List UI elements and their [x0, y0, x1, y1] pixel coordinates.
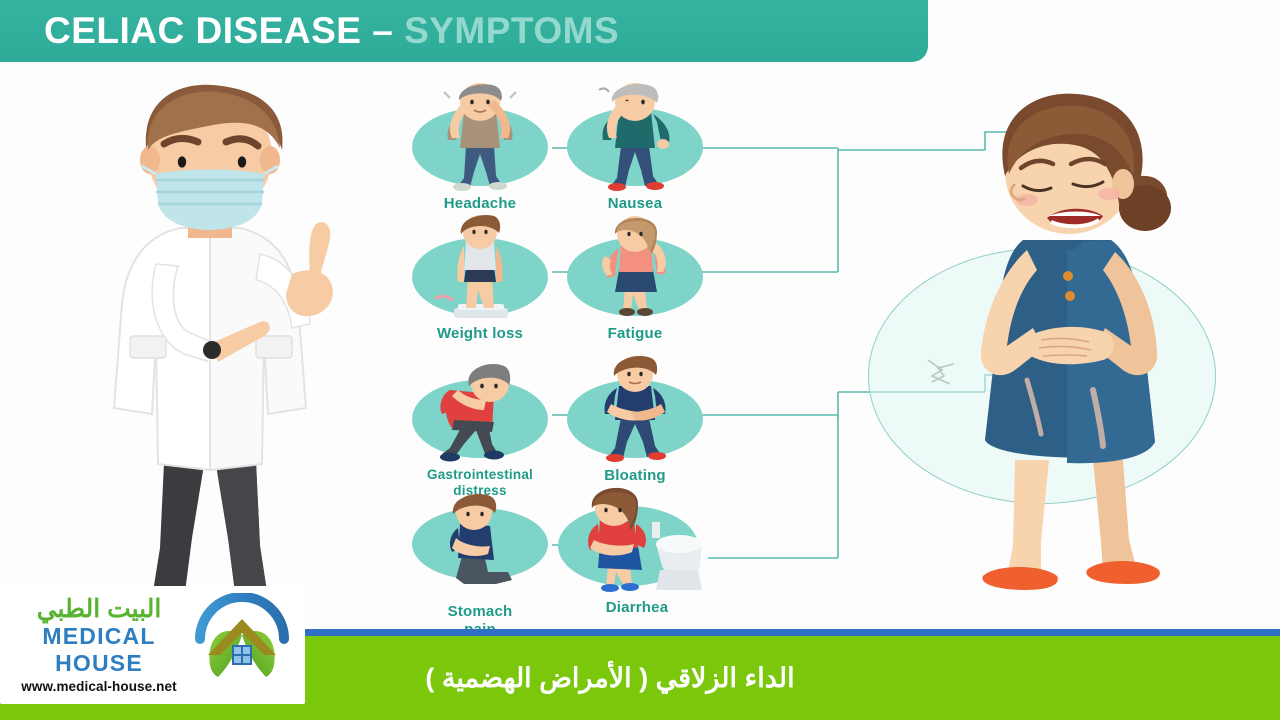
gastrointestinal-distress-figure-icon — [398, 354, 562, 466]
medical-house-emblem-icon — [188, 593, 296, 697]
symptom-headache-art — [404, 82, 556, 194]
logo-text-block: البيت الطبي MEDICAL HOUSE www.medical-ho… — [0, 596, 188, 694]
title-dash: – — [372, 10, 393, 51]
symptom-weight-loss-label: Weight loss — [404, 326, 556, 342]
symptom-gastrointestinal-distress-art — [398, 354, 562, 466]
symptom-bloating-art — [559, 354, 711, 466]
symptom-nausea-label: Nausea — [559, 196, 711, 212]
symptom-gastrointestinal-distress[interactable]: Gastrointestinal distress — [398, 354, 562, 498]
symptom-gastrointestinal-distress-label: Gastrointestinal — [398, 468, 562, 482]
headache-figure-icon — [404, 82, 556, 194]
medical-house-logo[interactable]: البيت الطبي MEDICAL HOUSE www.medical-ho… — [0, 586, 305, 704]
symptom-nausea[interactable]: Nausea — [559, 82, 711, 212]
symptom-fatigue[interactable]: Fatigue — [559, 212, 711, 342]
symptom-weight-loss[interactable]: Weight loss — [404, 212, 556, 342]
logo-website-url: www.medical-house.net — [10, 679, 188, 694]
bloating-figure-icon — [559, 354, 711, 466]
title-muted: SYMPTOMS — [404, 10, 619, 51]
weight-loss-figure-icon — [404, 212, 556, 324]
doctor-illustration — [60, 78, 360, 608]
logo-arabic-name: البيت الطبي — [10, 596, 188, 622]
diarrhea-figure-icon — [552, 482, 722, 604]
fatigue-figure-icon — [559, 212, 711, 324]
symptom-stomach-pain-art — [404, 490, 556, 602]
woman-illustration — [865, 90, 1265, 610]
symptom-weight-loss-art — [404, 212, 556, 324]
symptom-stomach-pain-label: Stomach — [404, 604, 556, 620]
symptom-headache[interactable]: Headache — [404, 82, 556, 212]
symptom-fatigue-art — [559, 212, 711, 324]
symptom-fatigue-label: Fatigue — [559, 326, 711, 342]
infographic-canvas: CELIAC DISEASE – SYMPTOMS — [0, 0, 1280, 720]
nausea-figure-icon — [559, 82, 711, 194]
stomach-pain-figure-icon — [404, 490, 556, 602]
symptom-bloating[interactable]: Bloating — [559, 354, 711, 484]
header-banner: CELIAC DISEASE – SYMPTOMS — [0, 0, 928, 62]
symptom-diarrhea-art — [552, 482, 722, 604]
symptom-diarrhea[interactable]: Diarrhea — [552, 482, 722, 616]
symptom-stomach-pain[interactable]: Stomach pain — [404, 490, 556, 638]
title-main: CELIAC DISEASE — [44, 10, 361, 51]
symptom-nausea-art — [559, 82, 711, 194]
footer-arabic-caption: الداء الزلاقي ( الأمراض الهضمية ) — [425, 663, 794, 694]
page-title: CELIAC DISEASE – SYMPTOMS — [44, 10, 619, 52]
symptom-headache-label: Headache — [404, 196, 556, 212]
logo-english-name: MEDICAL HOUSE — [10, 623, 188, 676]
symptom-grid: Headache — [404, 82, 724, 622]
